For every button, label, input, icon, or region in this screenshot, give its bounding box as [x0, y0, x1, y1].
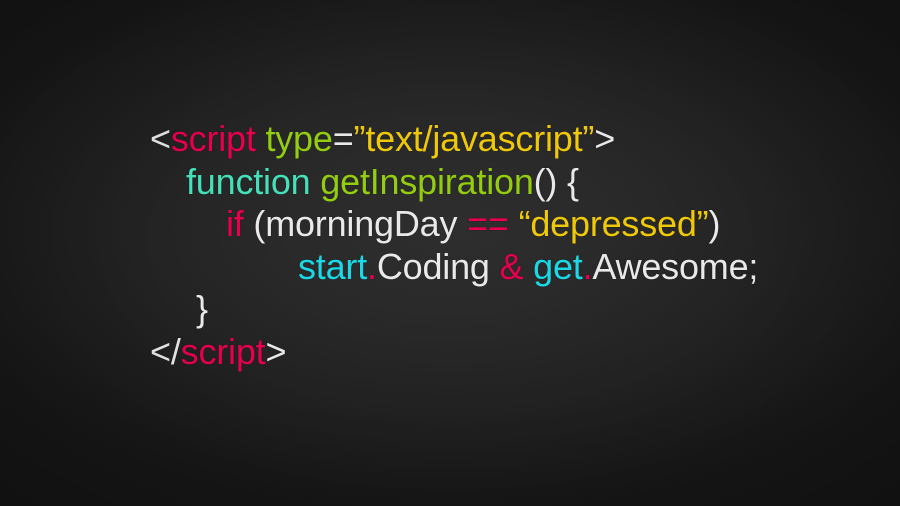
code-token: & [500, 246, 524, 287]
code-line-indent: </script> [150, 331, 286, 372]
code-token: ) [708, 203, 720, 244]
code-line-indent: start.Coding & get.Awesome; [298, 246, 758, 287]
code-line: if (morningDay == “depressed”) [0, 203, 900, 246]
code-line-indent: if (morningDay == “depressed”) [226, 203, 720, 244]
code-token: () { [534, 161, 579, 202]
code-token: . [367, 246, 377, 287]
code-token [509, 203, 519, 244]
code-token: = [333, 118, 354, 159]
code-token: get [533, 246, 582, 287]
code-token: > [265, 331, 286, 372]
code-token: function [186, 161, 320, 202]
code-token: “depressed” [519, 203, 709, 244]
code-token: . [583, 246, 593, 287]
code-line-indent: function getInspiration() { [186, 161, 579, 202]
code-token [256, 118, 266, 159]
code-line: </script> [0, 331, 900, 374]
code-token: getInspiration [320, 161, 533, 202]
code-token: (morningDay [244, 203, 467, 244]
code-line: } [0, 288, 900, 331]
code-line: function getInspiration() { [0, 161, 900, 204]
code-token [523, 246, 533, 287]
code-line-indent: <script type=”text/javascript”> [150, 118, 615, 159]
code-token: if [226, 203, 244, 244]
code-token: script [171, 118, 256, 159]
code-token: < [150, 118, 171, 159]
code-token: == [467, 203, 509, 244]
wallpaper-canvas: <script type=”text/javascript”>function … [0, 0, 900, 506]
code-block: <script type=”text/javascript”>function … [0, 118, 900, 373]
code-token: } [196, 288, 208, 329]
code-token: Coding [377, 246, 500, 287]
code-token: Awesome; [592, 246, 758, 287]
code-line: start.Coding & get.Awesome; [0, 246, 900, 289]
code-token: type [265, 118, 332, 159]
code-line: <script type=”text/javascript”> [0, 118, 900, 161]
code-token: start [298, 246, 367, 287]
code-token: </ [150, 331, 181, 372]
code-token: > [594, 118, 615, 159]
code-token: script [181, 331, 266, 372]
code-token: ”text/javascript” [354, 118, 595, 159]
code-line-indent: } [196, 288, 208, 329]
